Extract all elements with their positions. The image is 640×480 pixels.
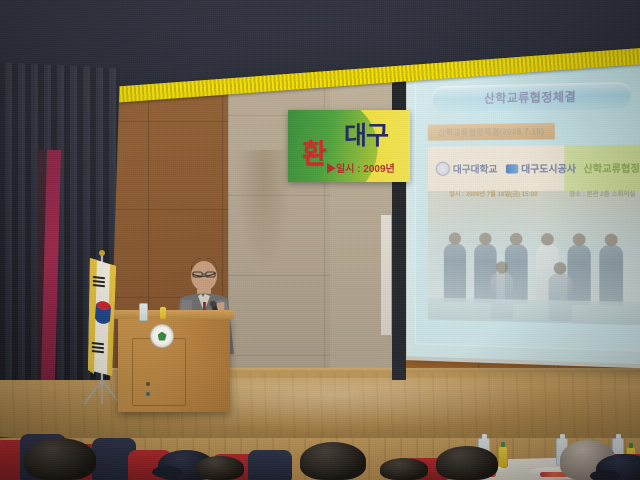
slide-subtitle-bar: 산학교류협정체결(2008.7.16)	[428, 123, 555, 141]
photo-front-table	[428, 298, 640, 326]
auditorium-seat	[248, 450, 292, 480]
institution-emblem	[150, 324, 174, 348]
slide-embedded-photo: 대구대학교 대구도시공사 산학교류협정 일시 : 2008년 7월 18일(금)…	[428, 145, 640, 326]
photo-date-left: 일시 : 2008년 7월 18일(금) 15:00	[428, 189, 560, 198]
yellow-drink-on-podium	[160, 307, 166, 319]
projected-slide: 산학교류협정체결 산학교류협정체결(2008.7.16) 대구대학교 대구도시공…	[415, 64, 640, 352]
water-bottle-on-podium	[139, 303, 148, 321]
lectern-front-panel	[132, 338, 186, 406]
audience-head	[300, 442, 366, 480]
welcome-banner: 환 대구 ▶일시 : 2009년	[288, 110, 410, 182]
photo-date-right: 장소 : 본관 2층 소회의실	[562, 189, 640, 198]
audience-head-with-cap	[596, 454, 640, 480]
wall-stain-mark	[236, 150, 292, 270]
audience-head	[380, 458, 428, 480]
banner-date-text: ▶일시 : 2009년	[326, 160, 395, 175]
screen-left-dark-edge	[392, 40, 406, 380]
org-right-label: 대구도시공사	[521, 161, 576, 176]
slide-title-bar: 산학교류협정체결	[432, 82, 632, 113]
photo-person	[444, 243, 466, 302]
floor-reflection	[180, 378, 560, 434]
photo-header-banner: 대구대학교 대구도시공사 산학교류협정	[428, 145, 640, 191]
audience-head	[436, 446, 498, 480]
wall-light-strip	[381, 215, 391, 335]
corporation-logo-icon	[506, 164, 518, 173]
emblem-green-mark	[158, 332, 167, 341]
banner-large-red-text: 환	[302, 132, 327, 171]
slide-subtitle-text: 산학교류협정체결(2008.7.16)	[438, 126, 544, 139]
screen-surface: 산학교류협정체결 산학교류협정체결(2008.7.16) 대구대학교 대구도시공…	[407, 51, 640, 364]
juice-bottle	[498, 446, 508, 468]
banner-large-navy-text: 대구	[344, 116, 388, 152]
lectern-indicator-light	[146, 392, 150, 396]
photograph-scene: 산학교류협정체결 산학교류협정체결(2008.7.16) 대구대학교 대구도시공…	[0, 0, 640, 480]
event-label: 산학교류협정	[584, 160, 640, 175]
tripod-flag-stand	[84, 380, 120, 404]
university-seal-icon	[436, 162, 450, 176]
audience-head	[196, 456, 244, 480]
photo-person	[599, 245, 623, 306]
wooden-lectern	[118, 316, 230, 412]
org-left-label: 대구대학교	[453, 161, 497, 175]
slide-title-text: 산학교류협정체결	[484, 88, 576, 106]
lectern-top-surface	[114, 310, 234, 319]
audience-head	[24, 438, 96, 480]
lectern-knob	[146, 382, 150, 386]
